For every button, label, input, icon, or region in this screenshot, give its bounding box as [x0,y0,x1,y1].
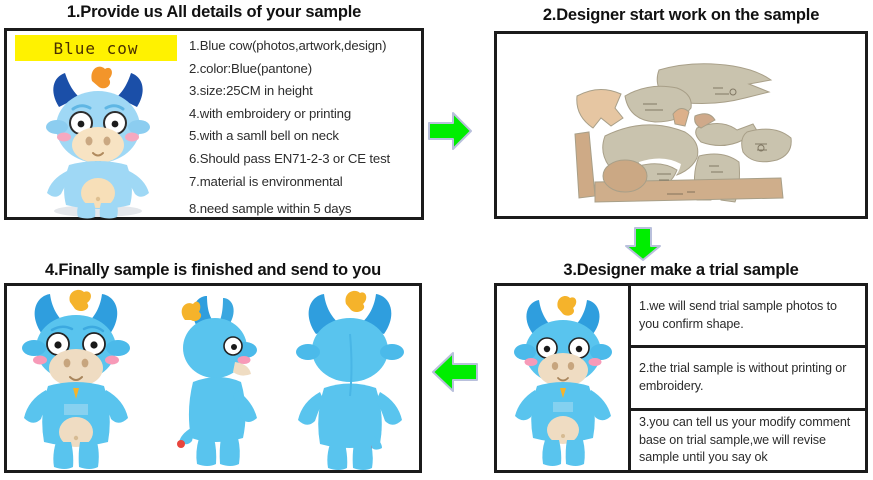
finished-sample-photo-row [7,286,419,470]
note-row: 2.the trial sample is without printing o… [631,348,865,410]
step2-heading: 2.Designer start work on the sample [494,6,868,25]
note-row: 1.we will send trial sample photos to yo… [631,286,865,348]
finished-plush-back-view [286,286,414,470]
detail-item: 3.size:25CM in height [189,80,423,103]
finished-plush-side-view [149,286,277,470]
step1-sample-column: Blue cow [7,31,185,217]
detail-item: 5.with a samll bell on neck [189,125,423,148]
step3-heading: 3.Designer make a trial sample [494,261,868,280]
sample-name-badge: Blue cow [15,35,177,61]
detail-item: 2.color:Blue(pantone) [189,58,423,81]
note-text: 1.we will send trial sample photos to yo… [639,298,859,333]
step2-panel [494,31,868,219]
finished-plush-front-view [12,286,140,470]
trial-sample-photo [501,290,625,470]
arrow-step2-to-step3 [624,226,662,262]
step1-detail-list: 1.Blue cow(photos,artwork,design) 2.colo… [189,35,423,220]
detail-item: 1.Blue cow(photos,artwork,design) [189,35,423,58]
step4-panel [4,283,422,473]
step1-heading: 1.Provide us All details of your sample [4,3,424,22]
blue-cow-cartoon-icon [29,61,167,219]
arrow-step1-to-step2 [427,110,473,152]
arrow-step3-to-step4 [431,350,479,394]
step4-heading: 4.Finally sample is finished and send to… [4,261,422,280]
pattern-pieces-photo [547,52,827,204]
detail-item: 4.with embroidery or printing [189,103,423,126]
step3-panel: 1.we will send trial sample photos to yo… [494,283,868,473]
step1-panel: Blue cow [4,28,424,220]
step3-notes-list: 1.we will send trial sample photos to yo… [631,286,865,470]
note-text: 3.you can tell us your modify comment ba… [639,414,859,467]
detail-item: 8.need sample within 5 days [189,198,423,221]
note-row: 3.you can tell us your modify comment ba… [631,411,865,470]
detail-item: 7.material is environmental [189,171,423,194]
detail-item: 6.Should pass EN71-2-3 or CE test [189,148,423,171]
note-text: 2.the trial sample is without printing o… [639,360,859,395]
infographic-canvas: 1.Provide us All details of your sample … [0,0,873,480]
